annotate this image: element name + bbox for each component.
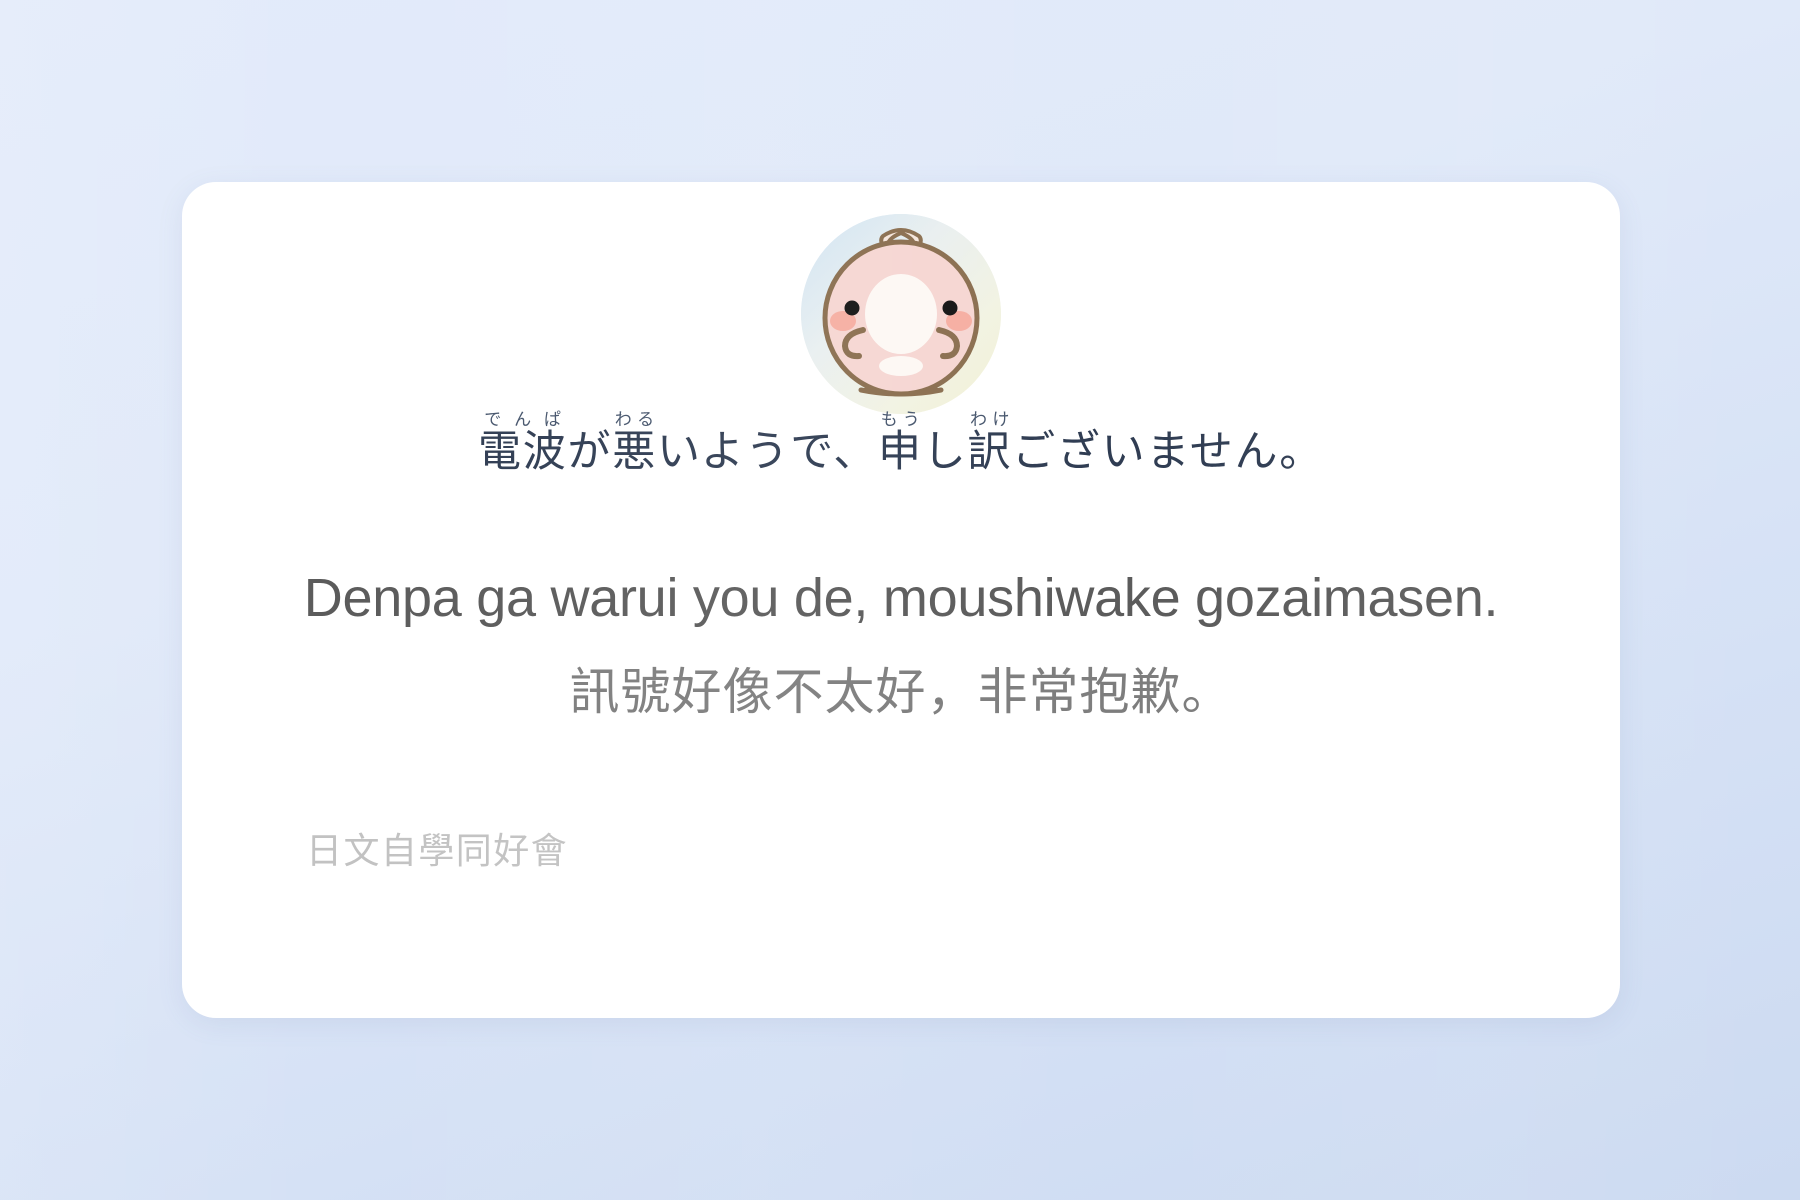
mascot-container — [182, 214, 1620, 414]
kanji-wake: 訳 — [967, 428, 1012, 476]
kana-gozaimasen: ございません。 — [1012, 431, 1324, 474]
furigana-denpa: でんぱ — [478, 410, 567, 429]
japanese-sentence-with-furigana: 電波でんぱが悪わるいようで、申もうし訳わけございません。 — [182, 410, 1620, 474]
kanji-mou: 申 — [878, 428, 923, 476]
kana-ga: が — [568, 431, 613, 474]
kana-iyoude: いようで、 — [657, 431, 878, 474]
round-pink-mascot-avatar-icon — [801, 214, 1001, 414]
chinese-translation-line: 訊號好像不太好，非常抱歉。 — [182, 652, 1620, 724]
phrase-card: 電波でんぱが悪わるいようで、申もうし訳わけございません。 Denpa ga wa… — [182, 182, 1620, 1018]
ruby-denpa: 電波でんぱ — [478, 410, 567, 474]
page-background: 電波でんぱが悪わるいようで、申もうし訳わけございません。 Denpa ga wa… — [0, 0, 1800, 1200]
furigana-mou: もう — [878, 410, 923, 429]
ruby-mou: 申もう — [878, 410, 923, 474]
credit-watermark: 日文自學同好會 — [306, 822, 568, 874]
kanji-warui: 悪 — [612, 428, 657, 476]
kanji-denpa: 電波 — [478, 428, 567, 476]
kana-shi: し — [923, 431, 968, 474]
furigana-wake: わけ — [967, 410, 1012, 429]
romaji-line: Denpa ga warui you de, moushiwake gozaim… — [182, 567, 1620, 629]
furigana-warui: わる — [612, 410, 657, 429]
ruby-wake: 訳わけ — [967, 410, 1012, 474]
ruby-warui: 悪わる — [612, 410, 657, 474]
ruby-group: 電波でんぱが悪わるいようで、申もうし訳わけございません。 — [478, 410, 1324, 474]
